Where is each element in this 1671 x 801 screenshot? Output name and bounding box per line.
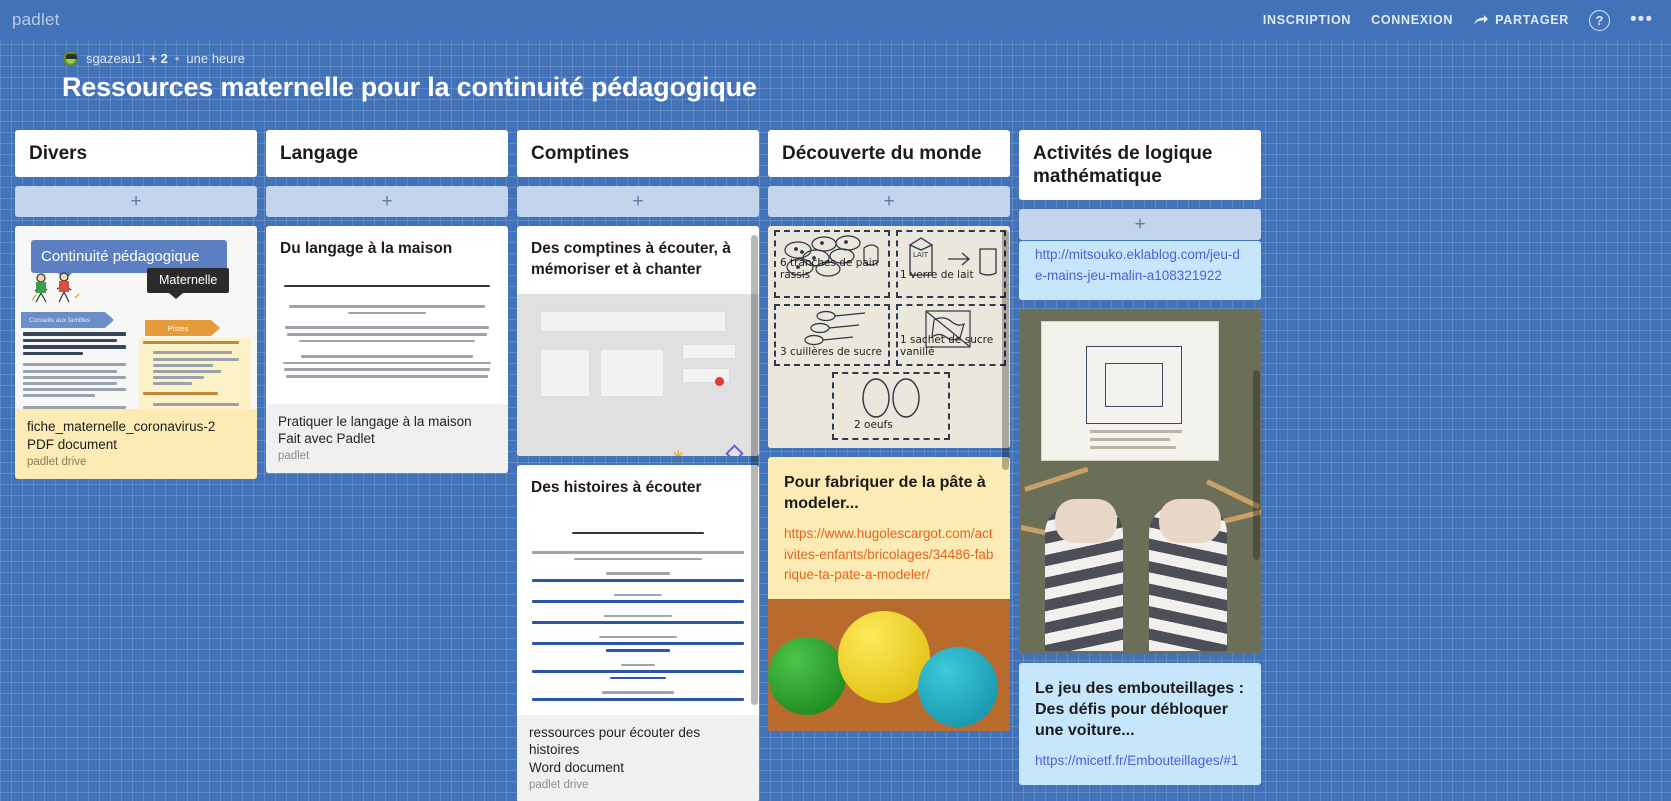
worksheet-paper bbox=[1041, 321, 1219, 461]
mockup-block-2 bbox=[600, 349, 664, 397]
file-name: ressources pour écouter des histoires bbox=[529, 724, 747, 759]
recipe-box-bread: 6 tranches de pain rassis bbox=[774, 230, 890, 298]
file-type: Fait avec Padlet bbox=[278, 430, 496, 448]
card-fiche-maternelle[interactable]: Continuité pédagogique Maternelle bbox=[15, 226, 257, 479]
column-divers: Divers + Continuité pédagogique Maternel… bbox=[15, 130, 257, 801]
card-footer: Pratiquer le langage à la maison Fait av… bbox=[266, 404, 508, 474]
add-post-button-langage[interactable]: + bbox=[266, 186, 508, 217]
column-langage: Langage + Du langage à la maison bbox=[266, 130, 508, 801]
recipe-label-milk: 1 verre de lait bbox=[900, 269, 974, 281]
more-options-icon[interactable]: ••• bbox=[1630, 15, 1653, 25]
column-body-logique: http://mitsouko.eklablog.com/jeu-de-main… bbox=[1019, 249, 1261, 785]
card-title-area: Des comptines à écouter, à mémoriser et … bbox=[517, 226, 759, 294]
column-title: Divers bbox=[29, 142, 87, 165]
card-title-area: Des histoires à écouter bbox=[517, 465, 759, 509]
file-type: PDF document bbox=[27, 436, 245, 454]
document-preview bbox=[266, 271, 508, 404]
column-header-comptines[interactable]: Comptines bbox=[517, 130, 759, 177]
board-header: sgazeau1 + 2 • une heure Ressources mate… bbox=[62, 48, 757, 103]
pdf-body-right-column bbox=[139, 338, 251, 409]
recipe-label-vanilla: 1 sachet de sucre vanillé bbox=[900, 334, 1004, 358]
file-source: padlet drive bbox=[529, 779, 747, 791]
recipe-box-milk: LAIT 1 verre de lait bbox=[896, 230, 1006, 298]
board-columns: Divers + Continuité pédagogique Maternel… bbox=[15, 130, 1671, 801]
mockup-star-icon: ✳ bbox=[672, 450, 685, 456]
dough-ball-yellow bbox=[838, 611, 930, 703]
child-hand-left bbox=[1055, 499, 1117, 543]
pdf-ribbon-right: Pistes bbox=[145, 320, 211, 336]
add-post-button-logique[interactable]: + bbox=[1019, 209, 1261, 240]
mockup-search-bar bbox=[540, 311, 726, 332]
card-title: Le jeu des embouteillages : Des défis po… bbox=[1035, 678, 1245, 741]
recipe-label-sugar: 3 cuillères de sucre bbox=[780, 346, 882, 358]
column-scrollbar-comptines[interactable] bbox=[751, 235, 758, 705]
add-post-button-comptines[interactable]: + bbox=[517, 186, 759, 217]
column-title: Langage bbox=[280, 142, 358, 165]
share-button[interactable]: PARTAGER bbox=[1473, 13, 1569, 27]
column-body-decouverte: 6 tranches de pain rassis LAIT bbox=[768, 226, 1010, 731]
document-preview bbox=[517, 510, 759, 715]
card-du-langage-a-la-maison[interactable]: Du langage à la maison bbox=[266, 226, 508, 473]
timestamp: une heure bbox=[186, 51, 245, 66]
dough-ball-blue bbox=[918, 647, 998, 727]
signup-link[interactable]: INSCRIPTION bbox=[1263, 13, 1351, 27]
recipe-photo: 6 tranches de pain rassis LAIT bbox=[768, 226, 1010, 448]
card-title: Des comptines à écouter, à mémoriser et … bbox=[531, 239, 745, 280]
playdough-photo bbox=[768, 599, 1010, 731]
pdf-preview-image: Continuité pédagogique Maternelle bbox=[15, 226, 257, 409]
column-header-logique[interactable]: Activités de logique mathématique bbox=[1019, 130, 1261, 200]
file-source: padlet drive bbox=[27, 456, 245, 468]
card-content: http://mitsouko.eklablog.com/jeu-de-main… bbox=[1019, 241, 1261, 300]
column-title: Comptines bbox=[531, 142, 629, 165]
share-arrow-icon bbox=[1473, 14, 1489, 27]
card-content: Pour fabriquer de la pâte à modeler... h… bbox=[768, 457, 1010, 599]
card-des-histoires[interactable]: Des histoires à écouter bbox=[517, 465, 759, 801]
column-header-langage[interactable]: Langage bbox=[266, 130, 508, 177]
card-recette-photo[interactable]: 6 tranches de pain rassis LAIT bbox=[768, 226, 1010, 448]
column-scrollbar-logique[interactable] bbox=[1253, 370, 1260, 560]
card-link[interactable]: http://mitsouko.eklablog.com/jeu-de-main… bbox=[1035, 245, 1245, 286]
column-activites-logique: Activités de logique mathématique + http… bbox=[1019, 130, 1261, 801]
recipe-box-eggs: 2 oeufs bbox=[832, 372, 950, 440]
file-source: padlet bbox=[278, 450, 496, 462]
card-content: Le jeu des embouteillages : Des défis po… bbox=[1019, 663, 1261, 786]
child-hand-right bbox=[1159, 499, 1221, 543]
svg-text:LAIT: LAIT bbox=[913, 251, 929, 259]
recipe-box-vanilla: 1 sachet de sucre vanillé bbox=[896, 304, 1006, 366]
dough-ball-green bbox=[768, 637, 846, 715]
file-name: fiche_maternelle_coronavirus-2 bbox=[27, 418, 245, 436]
board-meta: sgazeau1 + 2 • une heure bbox=[62, 48, 757, 68]
column-scrollbar-decouverte[interactable] bbox=[1002, 230, 1009, 470]
card-link[interactable]: https://micetf.fr/Embouteillages/#1 bbox=[1035, 751, 1245, 771]
mockup-diamond-icon bbox=[725, 444, 743, 456]
column-body-divers: Continuité pédagogique Maternelle bbox=[15, 226, 257, 479]
card-des-comptines[interactable]: Des comptines à écouter, à mémoriser et … bbox=[517, 226, 759, 456]
file-type: Word document bbox=[529, 759, 747, 777]
column-body-langage: Du langage à la maison bbox=[266, 226, 508, 473]
children-illustration-icon bbox=[27, 270, 83, 310]
card-footer: fiche_maternelle_coronavirus-2 PDF docum… bbox=[15, 409, 257, 479]
column-decouverte-du-monde: Découverte du monde + bbox=[768, 130, 1010, 801]
padlet-logo[interactable]: padlet bbox=[12, 10, 60, 30]
card-geoboard-photo[interactable] bbox=[1019, 309, 1261, 654]
mockup-red-dot-icon bbox=[715, 377, 724, 386]
recipe-box-sugar: 3 cuillères de sucre bbox=[774, 304, 890, 366]
worksheet-inner-square bbox=[1105, 363, 1163, 407]
column-header-divers[interactable]: Divers bbox=[15, 130, 257, 177]
pdf-banner-tag: Maternelle bbox=[147, 268, 229, 293]
column-title: Activités de logique mathématique bbox=[1033, 142, 1247, 188]
worksheet-grid bbox=[1086, 346, 1182, 424]
top-navigation-bar: padlet INSCRIPTION CONNEXION PARTAGER ? … bbox=[0, 0, 1671, 40]
column-header-decouverte[interactable]: Découverte du monde bbox=[768, 130, 1010, 177]
card-title: Du langage à la maison bbox=[280, 239, 494, 259]
card-title: Des histoires à écouter bbox=[531, 478, 745, 498]
top-nav-actions: INSCRIPTION CONNEXION PARTAGER ? ••• bbox=[1263, 10, 1671, 31]
recipe-label-eggs: 2 oeufs bbox=[854, 419, 893, 431]
avatar[interactable] bbox=[62, 50, 79, 67]
mockup-block-1 bbox=[540, 349, 590, 397]
login-link[interactable]: CONNEXION bbox=[1371, 13, 1453, 27]
page-title: Ressources maternelle pour la continuité… bbox=[62, 72, 757, 103]
pdf-body-left-column bbox=[23, 332, 135, 409]
card-title-area: Du langage à la maison bbox=[266, 226, 508, 270]
column-body-comptines: Des comptines à écouter, à mémoriser et … bbox=[517, 226, 759, 801]
mockup-block-3 bbox=[682, 344, 736, 359]
card-pate-a-modeler[interactable]: Pour fabriquer de la pâte à modeler... h… bbox=[768, 457, 1010, 731]
share-label: PARTAGER bbox=[1495, 13, 1569, 27]
collaborator-count[interactable]: + 2 bbox=[149, 51, 167, 66]
column-title: Découverte du monde bbox=[782, 142, 982, 165]
meta-separator: • bbox=[175, 51, 180, 66]
card-title: Pour fabriquer de la pâte à modeler... bbox=[784, 472, 994, 514]
file-name: Pratiquer le langage à la maison bbox=[278, 413, 496, 431]
stick-1 bbox=[1024, 467, 1088, 492]
add-post-button-decouverte[interactable]: + bbox=[768, 186, 1010, 217]
author-name[interactable]: sgazeau1 bbox=[86, 51, 142, 66]
recipe-label-bread: 6 tranches de pain rassis bbox=[780, 257, 888, 281]
card-embouteillages[interactable]: Le jeu des embouteillages : Des défis po… bbox=[1019, 663, 1261, 786]
card-link[interactable]: https://www.hugolescargot.com/activites-… bbox=[784, 524, 994, 585]
column-comptines: Comptines + Des comptines à écouter, à m… bbox=[517, 130, 759, 801]
pdf-ribbon-left: Conseils aux familles bbox=[21, 312, 105, 328]
help-icon[interactable]: ? bbox=[1589, 10, 1610, 31]
add-post-button-divers[interactable]: + bbox=[15, 186, 257, 217]
card-footer: ressources pour écouter des histoires Wo… bbox=[517, 715, 759, 801]
geoboard-photo bbox=[1019, 309, 1261, 654]
card-mitsouko-link[interactable]: http://mitsouko.eklablog.com/jeu-de-main… bbox=[1019, 241, 1261, 300]
padlet-mockup-preview: ✳ bbox=[517, 294, 759, 456]
